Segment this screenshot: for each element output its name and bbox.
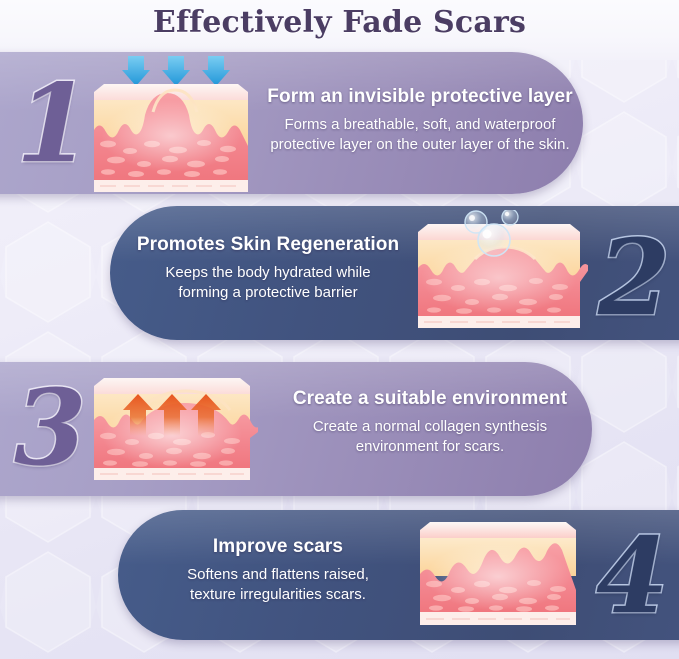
step-body-line: Softens and flattens raised, bbox=[128, 565, 428, 585]
step-text-2: Promotes Skin Regeneration Keeps the bod… bbox=[118, 234, 418, 303]
step-number-4: 4 bbox=[596, 524, 668, 628]
skin-illustration-1 bbox=[86, 56, 256, 193]
upward-arrows bbox=[123, 394, 221, 436]
skin-illustration-3 bbox=[86, 366, 258, 494]
step-heading-2: Promotes Skin Regeneration bbox=[118, 234, 418, 256]
step-text-4: Improve scars Softens and flattens raise… bbox=[128, 536, 428, 605]
step-heading-3: Create a suitable environment bbox=[270, 388, 590, 410]
step-heading-4: Improve scars bbox=[128, 536, 428, 558]
step-heading-1: Form an invisible protective layer bbox=[255, 86, 585, 108]
step-body-line: Forms a breathable, soft, and waterproof bbox=[255, 115, 585, 135]
infographic-page: Effectively Fade Scars 1 bbox=[0, 0, 679, 659]
step-text-1: Form an invisible protective layer Forms… bbox=[255, 86, 585, 155]
step-body-line: protective layer on the outer layer of t… bbox=[255, 135, 585, 155]
step-text-3: Create a suitable environment Create a n… bbox=[270, 388, 590, 457]
step-body-line: forming a protective barrier bbox=[118, 283, 418, 303]
step-body-line: Keeps the body hydrated while bbox=[118, 263, 418, 283]
page-title: Effectively Fade Scars bbox=[0, 0, 679, 44]
skin-illustration-4 bbox=[412, 512, 584, 638]
step-number-2: 2 bbox=[598, 226, 670, 330]
step-body-line: texture irregularities scars. bbox=[128, 585, 428, 605]
step-number-1: 1 bbox=[16, 70, 91, 178]
step-number-3: 3 bbox=[14, 376, 86, 480]
step-body-line: environment for scars. bbox=[270, 437, 590, 457]
step-body-line: Create a normal collagen synthesis bbox=[270, 417, 590, 437]
skin-illustration-2 bbox=[410, 210, 588, 340]
